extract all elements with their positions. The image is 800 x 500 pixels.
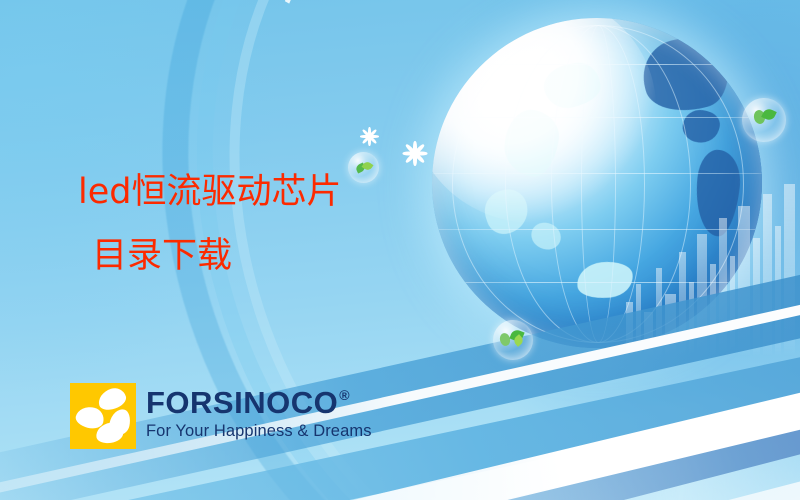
eco-bubble-3 (742, 98, 786, 142)
logo-wordmark-text: FORSINOCO (146, 386, 338, 420)
sparkle-flower-1 (357, 124, 381, 148)
headline-line-2: 目录下载 (78, 224, 478, 288)
bubble-sprout-stem (499, 332, 512, 347)
headline-line-1: led恒流驱动芯片 (78, 160, 478, 224)
company-logo[interactable]: FORSINOCO® For Your Happiness & Dreams (70, 383, 372, 449)
logo-wordmark: FORSINOCO® (146, 386, 372, 420)
eco-bubble-2 (493, 320, 533, 360)
logo-tagline: For Your Happiness & Dreams (146, 421, 372, 441)
logo-text-block: FORSINOCO® For Your Happiness & Dreams (146, 383, 372, 441)
promo-banner: led恒流驱动芯片 目录下载 FORSINOCO® For Your Happi… (0, 0, 800, 500)
city-skyline-silhouette (620, 176, 800, 356)
headline-text: led恒流驱动芯片 目录下载 (78, 160, 478, 288)
registered-trademark-icon: ® (339, 388, 350, 402)
forsinoco-pinwheel-icon (70, 383, 136, 449)
